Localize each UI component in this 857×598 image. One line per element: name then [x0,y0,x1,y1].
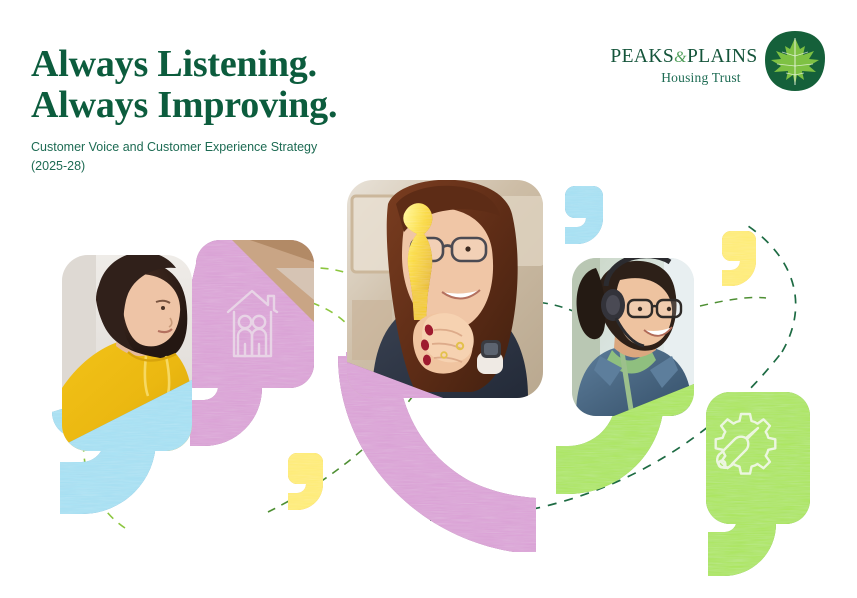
logo-wordmark: PEAKS&PLAINS Housing Trust [608,46,760,86]
green-speech-mark-block [706,392,810,576]
cover-page: Always Listening. Always Improving. Cust… [0,0,857,598]
logo-name: PEAKS&PLAINS [608,46,760,68]
page-title-line-1: Always Listening. [31,44,451,85]
logo-name-part1: PEAKS [610,46,674,67]
logo-name-part2: PLAINS [687,46,758,67]
woman-with-headset-photo [572,256,694,416]
woman-in-yellow-hoodie-photo [62,252,192,451]
peaks-and-plains-logo: PEAKS&PLAINS Housing Trust [608,30,826,106]
logo-ampersand: & [674,49,687,66]
yellow-quote-right [722,231,756,286]
blue-quote-small [565,186,603,244]
page-title-line-2: Always Improving. [31,85,451,126]
purple-speech-mark-block [172,240,314,446]
woman-holding-gold-award-photo [347,180,544,398]
maple-leaf-icon [764,30,826,92]
subtitle-text: Customer Voice and Customer Experience S… [31,140,317,154]
subtitle-year: (2025-28) [31,157,451,176]
yellow-quote-center [288,453,323,510]
logo-tagline: Housing Trust [608,70,760,86]
page-subtitle: Customer Voice and Customer Experience S… [31,138,451,176]
title-block: Always Listening. Always Improving. Cust… [31,44,451,176]
